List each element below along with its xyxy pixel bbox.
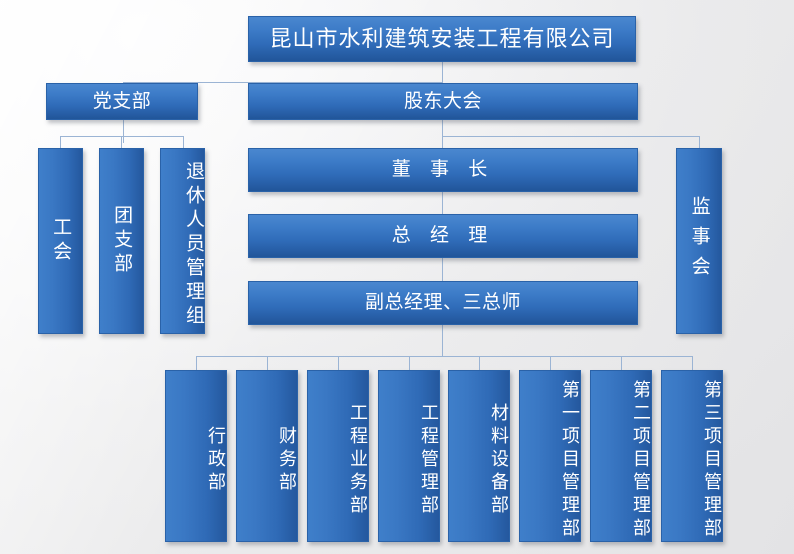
- node-general-manager[interactable]: 总 经 理: [248, 214, 638, 258]
- node-department-materials-equipment[interactable]: 材料设备部: [448, 370, 510, 542]
- connector-shareholders-down: [442, 120, 443, 136]
- connector-to-dept-6: [550, 356, 551, 370]
- connector-to-dept-3: [338, 356, 339, 370]
- connector-chairman-to-gm: [442, 192, 443, 214]
- connector-company-down: [442, 62, 443, 83]
- connector-to-dept-4: [409, 356, 410, 370]
- node-youth-league-branch[interactable]: 团支部: [99, 148, 144, 334]
- connector-to-retiree-group: [183, 136, 184, 148]
- node-supervisory-board[interactable]: 监事会: [676, 148, 722, 334]
- node-department-engineering-business[interactable]: 工程业务部: [307, 370, 369, 542]
- node-department-administration[interactable]: 行政部: [165, 370, 227, 542]
- connector-to-dept-7: [621, 356, 622, 370]
- connector-gm-to-deputies: [442, 258, 443, 281]
- connector-board-bus: [442, 136, 699, 137]
- node-department-project-2[interactable]: 第二项目管理部: [590, 370, 652, 542]
- connector-to-youth-league: [121, 136, 122, 148]
- connector-to-chairman: [442, 136, 443, 148]
- node-deputy-managers[interactable]: 副总经理、三总师: [248, 281, 638, 325]
- connector-deputies-down: [442, 325, 443, 356]
- node-chairman[interactable]: 董 事 长: [248, 148, 638, 192]
- connector-to-dept-2: [267, 356, 268, 370]
- connector-to-dept-5: [479, 356, 480, 370]
- node-department-finance[interactable]: 财务部: [236, 370, 298, 542]
- node-union[interactable]: 工会: [38, 148, 83, 334]
- connector-to-dept-8: [692, 356, 693, 370]
- connector-to-dept-1: [196, 356, 197, 370]
- connector-to-union: [60, 136, 61, 148]
- org-chart-canvas: 昆山市水利建筑安装工程有限公司 党支部 股东大会 董 事 长 总 经 理 副总经…: [0, 0, 794, 554]
- node-department-project-3[interactable]: 第三项目管理部: [661, 370, 723, 542]
- connector-to-supervisory-board: [699, 136, 700, 148]
- node-company[interactable]: 昆山市水利建筑安装工程有限公司: [248, 16, 636, 62]
- node-party-branch[interactable]: 党支部: [46, 83, 198, 120]
- connector-department-bus: [196, 356, 692, 357]
- node-department-engineering-management[interactable]: 工程管理部: [378, 370, 440, 542]
- node-shareholders-meeting[interactable]: 股东大会: [248, 83, 638, 120]
- node-retiree-management-group[interactable]: 退休人员管理组: [160, 148, 205, 334]
- node-department-project-1[interactable]: 第一项目管理部: [519, 370, 581, 542]
